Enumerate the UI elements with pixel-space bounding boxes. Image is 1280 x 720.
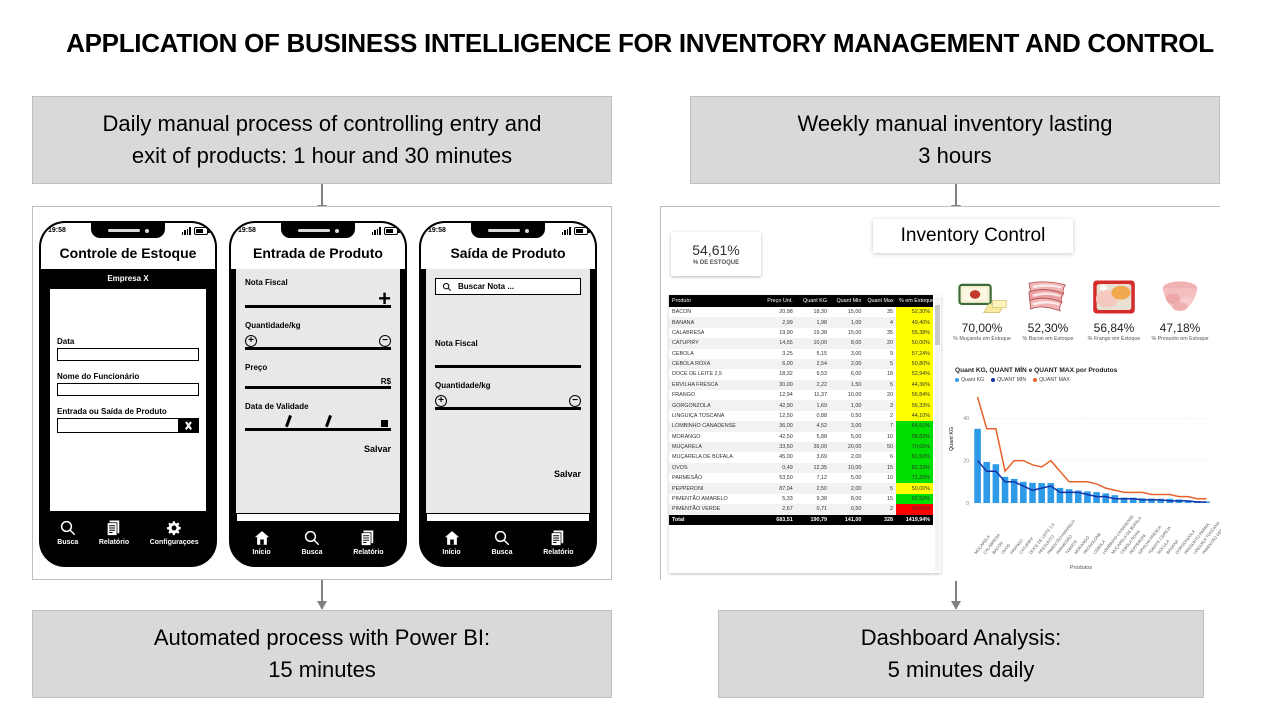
search-icon xyxy=(303,529,321,547)
table-cell: 5 xyxy=(864,483,896,493)
nav-label: Busca xyxy=(301,549,322,556)
chart-bar[interactable] xyxy=(974,429,981,503)
chevron-down-icon[interactable] xyxy=(178,419,198,432)
camera-icon xyxy=(145,229,149,233)
cheese-icon xyxy=(949,265,1015,317)
table-cell: 19,38 xyxy=(796,328,830,338)
slide-root: APPLICATION OF BUSINESS INTELLIGENCE FOR… xyxy=(0,0,1280,720)
phone-mockup-controle-de-estoque: 19:58 Controle de Estoque Empresa X Data… xyxy=(39,221,217,567)
field-underline xyxy=(245,305,391,308)
product-kpi-value: 56,84% xyxy=(1081,321,1147,335)
table-cell: 18,32 xyxy=(759,369,796,379)
table-row[interactable]: DOCE DE LEITE 2,518,329,536,001852,94% xyxy=(669,369,933,379)
product-kpi-caption: % Frango em Estoque xyxy=(1081,336,1147,342)
nav-label: Relatório xyxy=(543,549,573,556)
status-bar: 19:58 xyxy=(41,223,215,238)
table-cell: 15,00 xyxy=(830,307,864,317)
nav-item-relatorio[interactable]: Relatório xyxy=(353,529,383,556)
product-kpi-caption: % Bacon em Estoque xyxy=(1015,336,1081,342)
table-cell: 5 xyxy=(864,359,896,369)
speaker-icon xyxy=(488,229,520,232)
arrow-down-icon xyxy=(955,580,957,602)
table-cell: 2,22 xyxy=(796,380,830,390)
inventory-control-label: Inventory Control xyxy=(873,219,1073,253)
table-cell: 52,94% xyxy=(896,369,933,379)
nav-item-busca[interactable]: Busca xyxy=(57,519,78,546)
field-nota-fiscal[interactable]: Nota Fiscal + xyxy=(245,278,391,308)
home-icon xyxy=(443,529,461,547)
table-cell: 1,00 xyxy=(830,317,864,327)
app-header-title: Entrada de Produto xyxy=(231,238,405,269)
field-preco[interactable]: Preço R$ xyxy=(245,363,391,389)
table-cell: 2,99 xyxy=(759,317,796,327)
table-cell: 2,00 xyxy=(830,452,864,462)
table-cell: 55,38% xyxy=(896,328,933,338)
table-scrollbar-thumb[interactable] xyxy=(935,305,940,345)
table-cell: 1,98 xyxy=(796,317,830,327)
table-cell: 35 xyxy=(864,307,896,317)
table-cell: PEPPERONI xyxy=(669,483,759,493)
signal-icon xyxy=(562,227,571,235)
nav-item-inicio[interactable]: Início xyxy=(252,529,270,556)
employee-name-field[interactable] xyxy=(57,383,199,396)
table-cell: 4,52 xyxy=(796,421,830,431)
column-header[interactable]: Quant Max xyxy=(864,295,896,307)
dashboard-panel: Inventory Control 54,61% % DE ESTOQUE Pr… xyxy=(660,206,1220,580)
box-line-2: 3 hours xyxy=(918,140,991,172)
mobile-app-panel: 19:58 Controle de Estoque Empresa X Data… xyxy=(32,206,612,580)
box-line-2: exit of products: 1 hour and 30 minutes xyxy=(132,140,512,172)
table-cell: 50,00% xyxy=(896,338,933,348)
table-row[interactable]: PARMESÃO53,507,125,001071,20% xyxy=(669,473,933,483)
table: ProdutoPreço Unt.Quant KGQuant MinQuant … xyxy=(669,295,933,525)
table-cell: 49,40% xyxy=(896,317,933,327)
battery-icon xyxy=(194,227,208,235)
chart-bar[interactable] xyxy=(1084,491,1091,503)
table-row[interactable]: BACON20,9818,3015,003552,30% xyxy=(669,307,933,317)
table-cell: 30,00 xyxy=(759,380,796,390)
increment-icon[interactable]: + xyxy=(245,335,257,347)
table-row[interactable]: MUÇARELA33,5035,0020,005070,00% xyxy=(669,442,933,452)
table-total-row: Total683,51190,79141,003281419,94% xyxy=(669,515,933,525)
notch xyxy=(471,223,545,238)
table-cell: CATUPIRY xyxy=(669,338,759,348)
table-cell: 45,00 xyxy=(759,452,796,462)
kpi-caption: % DE ESTOQUE xyxy=(693,260,739,266)
table-cell: 0,50 xyxy=(830,411,864,421)
report-icon xyxy=(549,529,567,547)
notch xyxy=(281,223,355,238)
chart-bar[interactable] xyxy=(1102,493,1109,503)
table-cell: 71,20% xyxy=(896,473,933,483)
table-cell: 4 xyxy=(864,317,896,327)
app-header-title: Saída de Produto xyxy=(421,238,595,269)
product-kpi-card: 56,84%% Frango em Estoque xyxy=(1081,265,1147,342)
table-cell: 8,00 xyxy=(830,494,864,504)
battery-icon xyxy=(384,227,398,235)
decrement-icon[interactable]: − xyxy=(569,395,581,407)
table-cell: 5,15 xyxy=(796,349,830,359)
gear-icon xyxy=(165,519,183,537)
legend-label: QUANT MAX xyxy=(1039,377,1070,383)
nav-label: Busca xyxy=(57,539,78,546)
table-row[interactable]: MORANGO42,505,885,001058,82% xyxy=(669,432,933,442)
table-cell: GORGONZOLA xyxy=(669,400,759,410)
table-cell: 5,33 xyxy=(759,494,796,504)
table-cell: 12,50 xyxy=(759,411,796,421)
legend-label: QUANT MÍN xyxy=(997,377,1026,383)
table-cell: 5,88 xyxy=(796,432,830,442)
nav-item-relatorio[interactable]: Relatório xyxy=(99,519,129,546)
form-screen: Nota Fiscal + Quantidade/kg + − Preço R$ xyxy=(236,269,400,513)
status-time: 19:58 xyxy=(238,227,256,234)
table-row[interactable]: PIMENTÃO VERDE2,670,710,50235,50% xyxy=(669,504,933,514)
date-mask xyxy=(245,416,391,428)
table-cell: 20 xyxy=(864,390,896,400)
column-header[interactable]: Preço Unt. xyxy=(759,295,796,307)
table-row[interactable]: CEBOLA3,255,153,00957,24% xyxy=(669,349,933,359)
table-cell: CEBOLA xyxy=(669,349,759,359)
table-cell: 9 xyxy=(864,349,896,359)
power-bi-dashboard: Inventory Control 54,61% % DE ESTOQUE Pr… xyxy=(661,207,1221,581)
table-cell: 8,00 xyxy=(830,338,864,348)
form-screen: Data Nome do Funcionário Entrada ou Saíd… xyxy=(49,288,207,512)
table-cell: 44,36% xyxy=(896,380,933,390)
field-underline xyxy=(435,365,581,368)
currency-suffix: R$ xyxy=(245,377,391,386)
table-cell: 15 xyxy=(864,494,896,504)
table-cell: 1,69 xyxy=(796,400,830,410)
table-cell: 3,69 xyxy=(796,452,830,462)
y-tick-label: 0 xyxy=(966,501,969,507)
field-label: Data de Validade xyxy=(245,402,391,411)
table-cell: 52,30% xyxy=(896,307,933,317)
table-cell: 61,50% xyxy=(896,452,933,462)
table-cell: 3 xyxy=(864,400,896,410)
table-cell: 12,94 xyxy=(759,390,796,400)
table-cell: 87,04 xyxy=(759,483,796,493)
legend-item[interactable]: QUANT MÍN xyxy=(991,377,1026,383)
table-cell: 12,35 xyxy=(796,463,830,473)
date-field[interactable] xyxy=(57,348,199,361)
field-label-entrada-saida: Entrada ou Saída de Produto xyxy=(57,407,199,416)
legend-item[interactable]: Quant KG xyxy=(955,377,984,383)
table-row[interactable]: PIMENTÃO AMARELO5,339,388,001562,50% xyxy=(669,494,933,504)
table-cell: 7,12 xyxy=(796,473,830,483)
table-row[interactable]: MUÇARELA DE BÚFALA45,003,692,00661,50% xyxy=(669,452,933,462)
table-row[interactable]: CALABRESA19,9019,3815,003555,38% xyxy=(669,328,933,338)
nav-label: Busca xyxy=(491,549,512,556)
field-label-nome: Nome do Funcionário xyxy=(57,372,199,381)
table-cell: 44,10% xyxy=(896,411,933,421)
table-cell: BANANA xyxy=(669,317,759,327)
table-cell: 56,33% xyxy=(896,400,933,410)
table-row[interactable]: CATUPIRY14,5510,008,002050,00% xyxy=(669,338,933,348)
inventory-table[interactable]: ProdutoPreço Unt.Quant KGQuant MinQuant … xyxy=(669,295,941,573)
table-cell: 42,90 xyxy=(759,400,796,410)
chicken-icon xyxy=(1081,265,1147,317)
nav-item-busca[interactable]: Busca xyxy=(301,529,322,556)
table-cell: 36,00 xyxy=(759,421,796,431)
save-button[interactable]: Salvar xyxy=(435,469,581,479)
nav-label: Início xyxy=(252,549,270,556)
table-cell: 10,00 xyxy=(830,390,864,400)
table-cell: 2,54 xyxy=(796,359,830,369)
ham-icon xyxy=(1147,265,1213,317)
table-cell: PIMENTÃO VERDE xyxy=(669,504,759,514)
table-cell: 0,50 xyxy=(830,504,864,514)
table-cell: 20,00 xyxy=(830,442,864,452)
table-cell: 10,00 xyxy=(830,463,864,473)
table-cell: 7 xyxy=(864,421,896,431)
table-row[interactable]: ERVILHA FRESCA30,002,221,50544,36% xyxy=(669,380,933,390)
calendar-icon xyxy=(381,420,388,427)
table-cell: 58,82% xyxy=(896,432,933,442)
table-cell: MUÇARELA xyxy=(669,442,759,452)
bottom-navigation: Busca Relatório xyxy=(41,512,215,554)
home-icon xyxy=(253,529,271,547)
table-cell: 5,00 xyxy=(830,432,864,442)
add-icon[interactable]: + xyxy=(245,292,391,305)
nav-label: Relatório xyxy=(99,539,129,546)
column-header[interactable]: Produto xyxy=(669,295,759,307)
table-cell: CEBOLA ROXA xyxy=(669,359,759,369)
notch xyxy=(91,223,165,238)
search-nota-input[interactable]: Buscar Nota ... xyxy=(435,278,581,295)
signal-icon xyxy=(182,227,191,235)
table-cell: 18 xyxy=(864,369,896,379)
select-value xyxy=(58,419,178,432)
table-total-cell: 141,00 xyxy=(830,515,864,525)
product-kpi-value: 70,00% xyxy=(949,321,1015,335)
report-icon xyxy=(105,519,123,537)
table-cell: 5,00 xyxy=(830,473,864,483)
form-screen: Buscar Nota ... Nota Fiscal Quantidade/k… xyxy=(426,269,590,513)
entry-exit-select[interactable] xyxy=(57,418,199,433)
arrow-down-icon xyxy=(955,184,957,206)
table-total-cell: 683,51 xyxy=(759,515,796,525)
field-data-validade[interactable]: Data de Validade xyxy=(245,402,391,431)
table-total-cell: Total xyxy=(669,515,759,525)
field-quantidade[interactable]: Quantidade/kg + − xyxy=(245,321,391,350)
box-line-1: Daily manual process of controlling entr… xyxy=(102,108,541,140)
legend-swatch xyxy=(955,378,959,382)
table-cell: BACON xyxy=(669,307,759,317)
table-cell: 62,50% xyxy=(896,494,933,504)
speaker-icon xyxy=(298,229,330,232)
search-icon xyxy=(493,529,511,547)
table-cell: 2,50 xyxy=(796,483,830,493)
legend-swatch xyxy=(1033,378,1037,382)
save-button[interactable]: Salvar xyxy=(245,444,391,454)
table-cell: 6,00 xyxy=(830,369,864,379)
y-tick-label: 40 xyxy=(963,416,969,422)
column-header[interactable]: Quant KG xyxy=(796,295,830,307)
field-nota-fiscal[interactable]: Nota Fiscal xyxy=(435,339,581,368)
battery-icon xyxy=(574,227,588,235)
chart-plot-area: 02040 xyxy=(947,391,1215,541)
decrement-icon[interactable]: − xyxy=(379,335,391,347)
table-cell: FRANGO xyxy=(669,390,759,400)
product-kpi-value: 47,18% xyxy=(1147,321,1213,335)
table-total-cell: 190,79 xyxy=(796,515,830,525)
table-cell: 0,88 xyxy=(796,411,830,421)
phone-mockup-entrada-de-produto: 19:58 Entrada de Produto Nota Fiscal + xyxy=(229,221,407,567)
chart-bar[interactable] xyxy=(1066,489,1073,503)
table-cell: 0,49 xyxy=(759,463,796,473)
nav-item-busca[interactable]: Busca xyxy=(491,529,512,556)
table-cell: 57,24% xyxy=(896,349,933,359)
table-cell: 9,38 xyxy=(796,494,830,504)
status-bar: 19:58 xyxy=(231,223,405,238)
table-cell: 50 xyxy=(864,442,896,452)
table-cell: ERVILHA FRESCA xyxy=(669,380,759,390)
table-cell: MUÇARELA DE BÚFALA xyxy=(669,452,759,462)
table-cell: 3,25 xyxy=(759,349,796,359)
box-line-1: Weekly manual inventory lasting xyxy=(797,108,1112,140)
table-cell: 2,00 xyxy=(830,359,864,369)
kpi-card-stock-percent: 54,61% % DE ESTOQUE xyxy=(671,232,761,276)
chart-bar[interactable] xyxy=(993,464,1000,503)
search-icon xyxy=(59,519,77,537)
table-cell: LINGUIÇA TOSCANA xyxy=(669,411,759,421)
signal-icon xyxy=(372,227,381,235)
company-name: Empresa X xyxy=(41,269,215,288)
field-label: Quantidade/kg xyxy=(435,381,581,390)
product-kpi-card: 47,18%% Presunto em Estoque xyxy=(1147,265,1213,342)
table-cell: 56,84% xyxy=(896,390,933,400)
table-cell: 3,00 xyxy=(830,421,864,431)
table-cell: 50,00% xyxy=(896,483,933,493)
bottom-navigation: Início Busca xyxy=(231,522,405,564)
table-cell: 20,98 xyxy=(759,307,796,317)
field-label: Preço xyxy=(245,363,391,372)
table-cell: DOCE DE LEITE 2,5 xyxy=(669,369,759,379)
nav-item-configuracoes[interactable]: Configuraçoes xyxy=(150,519,199,546)
process-box-top-left: Daily manual process of controlling entr… xyxy=(32,96,612,184)
table-cell: 1,00 xyxy=(830,400,864,410)
chart-x-axis-label: Produtos xyxy=(947,565,1215,571)
box-line-1: Automated process with Power BI: xyxy=(154,622,490,654)
column-header[interactable]: % em Estoque xyxy=(896,295,933,307)
nav-label: Configuraçoes xyxy=(150,539,199,546)
table-cell: PARMESÃO xyxy=(669,473,759,483)
field-quantidade[interactable]: Quantidade/kg + − xyxy=(435,381,581,410)
legend-swatch xyxy=(991,378,995,382)
status-indicators xyxy=(372,227,398,235)
table-row[interactable]: BANANA2,991,981,00449,40% xyxy=(669,317,933,327)
status-indicators xyxy=(562,227,588,235)
table-row[interactable]: LOMBINHO CANADENSE36,004,523,00764,51% xyxy=(669,421,933,431)
nav-item-inicio[interactable]: Início xyxy=(442,529,460,556)
screen-divider xyxy=(426,513,590,522)
table-cell: 33,50 xyxy=(759,442,796,452)
camera-icon xyxy=(525,229,529,233)
product-kpi-card: 70,00%% Muçarela em Estoque xyxy=(949,265,1015,342)
status-indicators xyxy=(182,227,208,235)
nav-item-relatorio[interactable]: Relatório xyxy=(543,529,573,556)
table-cell: 5 xyxy=(864,380,896,390)
product-kpi-row: 70,00%% Muçarela em Estoque52,30%% Bacon… xyxy=(949,265,1215,342)
box-line-1: Dashboard Analysis: xyxy=(861,622,1062,654)
field-underline xyxy=(435,407,581,410)
product-kpi-caption: % Presunto em Estoque xyxy=(1147,336,1213,342)
table-cell: 50,80% xyxy=(896,359,933,369)
chart-bar[interactable] xyxy=(1029,483,1036,503)
field-underline xyxy=(245,428,391,431)
search-placeholder: Buscar Nota ... xyxy=(458,282,514,291)
table-cell: 11,37 xyxy=(796,390,830,400)
table-row[interactable]: CEBOLA ROXA6,002,542,00550,80% xyxy=(669,359,933,369)
increment-icon[interactable]: + xyxy=(435,395,447,407)
table-cell: 10,00 xyxy=(796,338,830,348)
table-cell: 2 xyxy=(864,411,896,421)
table-cell: 1,50 xyxy=(830,380,864,390)
chart-bar[interactable] xyxy=(1093,492,1100,503)
table-cell: 2,67 xyxy=(759,504,796,514)
table-row[interactable]: LINGUIÇA TOSCANA12,500,880,50244,10% xyxy=(669,411,933,421)
column-header[interactable]: Quant Min xyxy=(830,295,864,307)
chart-legend: Quant KGQUANT MÍNQUANT MAX xyxy=(955,377,1215,383)
process-box-bottom-left: Automated process with Power BI: 15 minu… xyxy=(32,610,612,698)
table-cell: LOMBINHO CANADENSE xyxy=(669,421,759,431)
table-total-cell: 328 xyxy=(864,515,896,525)
product-kpi-value: 52,30% xyxy=(1015,321,1081,335)
product-kpi-caption: % Muçarela em Estoque xyxy=(949,336,1015,342)
chart-title: Quant KG, QUANT MÍN e QUANT MAX por Prod… xyxy=(955,367,1215,374)
table-cell: 3,00 xyxy=(830,349,864,359)
process-box-top-right: Weekly manual inventory lasting 3 hours xyxy=(690,96,1220,184)
arrow-down-icon xyxy=(321,580,323,602)
status-time: 19:58 xyxy=(48,227,66,234)
table-cell: 6 xyxy=(864,452,896,462)
table-cell: 35 xyxy=(864,328,896,338)
chart-bar[interactable] xyxy=(1038,483,1045,503)
table-cell: 53,50 xyxy=(759,473,796,483)
report-icon xyxy=(359,529,377,547)
table-row[interactable]: PEPPERONI87,042,502,00550,00% xyxy=(669,483,933,493)
table-header-row: ProdutoPreço Unt.Quant KGQuant MinQuant … xyxy=(669,295,933,307)
table-cell: 10 xyxy=(864,473,896,483)
field-underline xyxy=(245,347,391,350)
table-cell: 19,90 xyxy=(759,328,796,338)
table-cell: 0,71 xyxy=(796,504,830,514)
y-tick-label: 20 xyxy=(963,459,969,465)
table-cell: 35,50% xyxy=(896,504,933,514)
table-cell: OVOS xyxy=(669,463,759,473)
field-label: Nota Fiscal xyxy=(435,339,581,348)
bacon-icon xyxy=(1015,265,1081,317)
table-row[interactable]: FRANGO12,9411,3710,002056,84% xyxy=(669,390,933,400)
search-icon xyxy=(442,282,452,292)
bottom-navigation: Início Busca xyxy=(421,522,595,564)
table-cell: 6,00 xyxy=(759,359,796,369)
table-cell: 15,00 xyxy=(830,328,864,338)
table-cell: 2 xyxy=(864,504,896,514)
nav-label: Início xyxy=(442,549,460,556)
table-row[interactable]: GORGONZOLA42,901,691,00356,33% xyxy=(669,400,933,410)
table-cell: MORANGO xyxy=(669,432,759,442)
table-cell: 15 xyxy=(864,463,896,473)
field-label: Nota Fiscal xyxy=(245,278,391,287)
field-underline xyxy=(245,386,391,389)
speaker-icon xyxy=(108,229,140,232)
legend-item[interactable]: QUANT MAX xyxy=(1033,377,1070,383)
field-label: Quantidade/kg xyxy=(245,321,391,330)
screen-divider xyxy=(236,513,400,522)
table-row[interactable]: OVOS0,4912,3510,001582,33% xyxy=(669,463,933,473)
product-kpi-card: 52,30%% Bacon em Estoque xyxy=(1015,265,1081,342)
